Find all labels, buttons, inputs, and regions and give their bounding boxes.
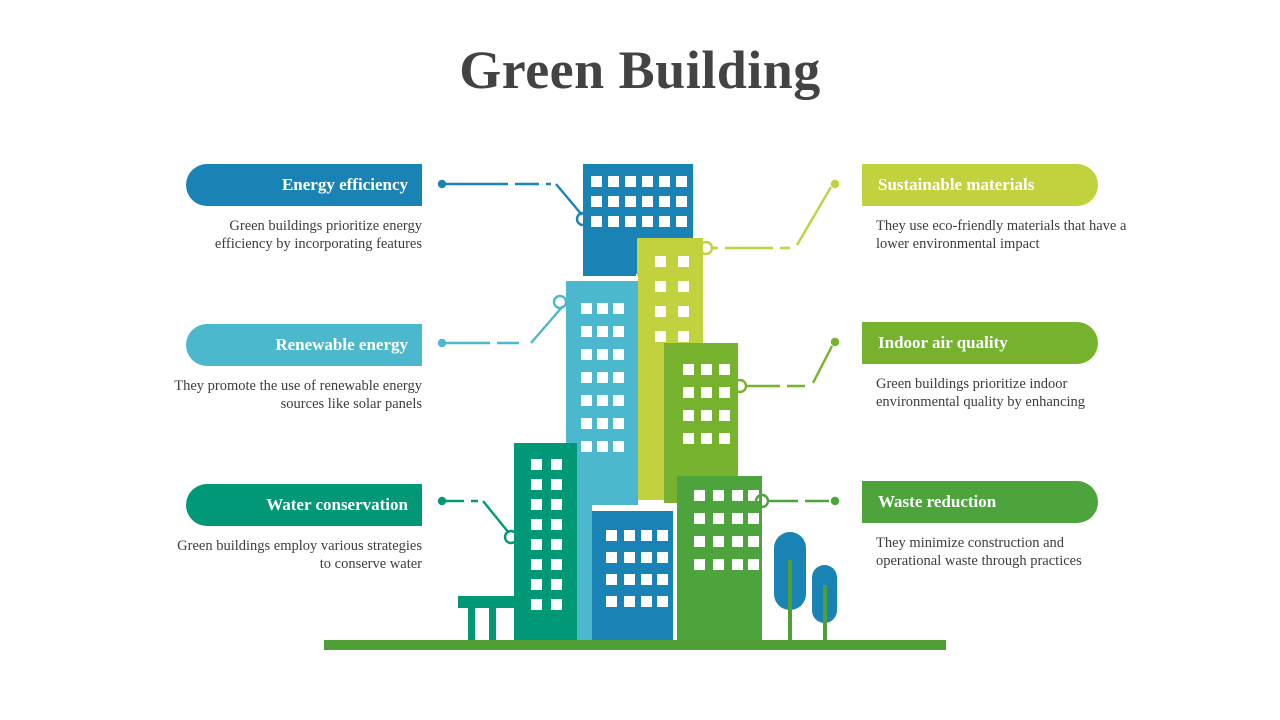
feature-label-waste-reduction[interactable]: Waste reduction bbox=[862, 481, 1098, 523]
slide-canvas: Green Building bbox=[0, 0, 1280, 720]
feature-waste-reduction: Waste reduction They minimize constructi… bbox=[862, 481, 1098, 570]
feature-description-water-conservation: Green buildings employ various strategie… bbox=[170, 538, 422, 573]
building-blue-top bbox=[583, 164, 693, 310]
building-teal bbox=[458, 443, 577, 640]
connector-water-conservation bbox=[438, 497, 517, 543]
feature-label-renewable-energy[interactable]: Renewable energy bbox=[186, 324, 422, 366]
tree-small bbox=[812, 565, 837, 642]
ground-bar bbox=[324, 640, 946, 650]
feature-label-indoor-air-quality[interactable]: Indoor air quality bbox=[862, 322, 1098, 364]
feature-label-sustainable-materials[interactable]: Sustainable materials bbox=[862, 164, 1098, 206]
feature-description-indoor-air-quality: Green buildings prioritize indoor enviro… bbox=[876, 376, 1128, 411]
feature-description-sustainable-materials: They use eco-friendly materials that hav… bbox=[876, 218, 1128, 253]
feature-renewable-energy: Renewable energy They promote the use of… bbox=[186, 324, 422, 413]
connector-energy-efficiency bbox=[438, 180, 589, 225]
building-green-mid bbox=[664, 343, 738, 503]
page-title: Green Building bbox=[0, 38, 1280, 102]
connector-indoor-air-quality bbox=[734, 338, 839, 392]
feature-description-renewable-energy: They promote the use of renewable energy… bbox=[170, 378, 422, 413]
building-green bbox=[677, 476, 762, 640]
feature-water-conservation: Water conservation Green buildings emplo… bbox=[186, 484, 422, 573]
connector-renewable-energy bbox=[438, 296, 566, 347]
building-blue-front bbox=[592, 505, 673, 640]
feature-label-energy-efficiency[interactable]: Energy efficiency bbox=[186, 164, 422, 206]
building-yellowgreen bbox=[637, 238, 703, 500]
building-cyan bbox=[566, 276, 638, 640]
feature-sustainable-materials: Sustainable materials They use eco-frien… bbox=[862, 164, 1098, 253]
feature-label-water-conservation[interactable]: Water conservation bbox=[186, 484, 422, 526]
feature-description-waste-reduction: They minimize construction and operation… bbox=[876, 535, 1128, 570]
connector-sustainable-materials bbox=[700, 180, 839, 254]
connector-waste-reduction bbox=[756, 495, 839, 507]
feature-indoor-air-quality: Indoor air quality Green buildings prior… bbox=[862, 322, 1098, 411]
feature-description-energy-efficiency: Green buildings prioritize energy effici… bbox=[170, 218, 422, 253]
feature-energy-efficiency: Energy efficiency Green buildings priori… bbox=[186, 164, 422, 253]
tree-large bbox=[774, 532, 806, 642]
